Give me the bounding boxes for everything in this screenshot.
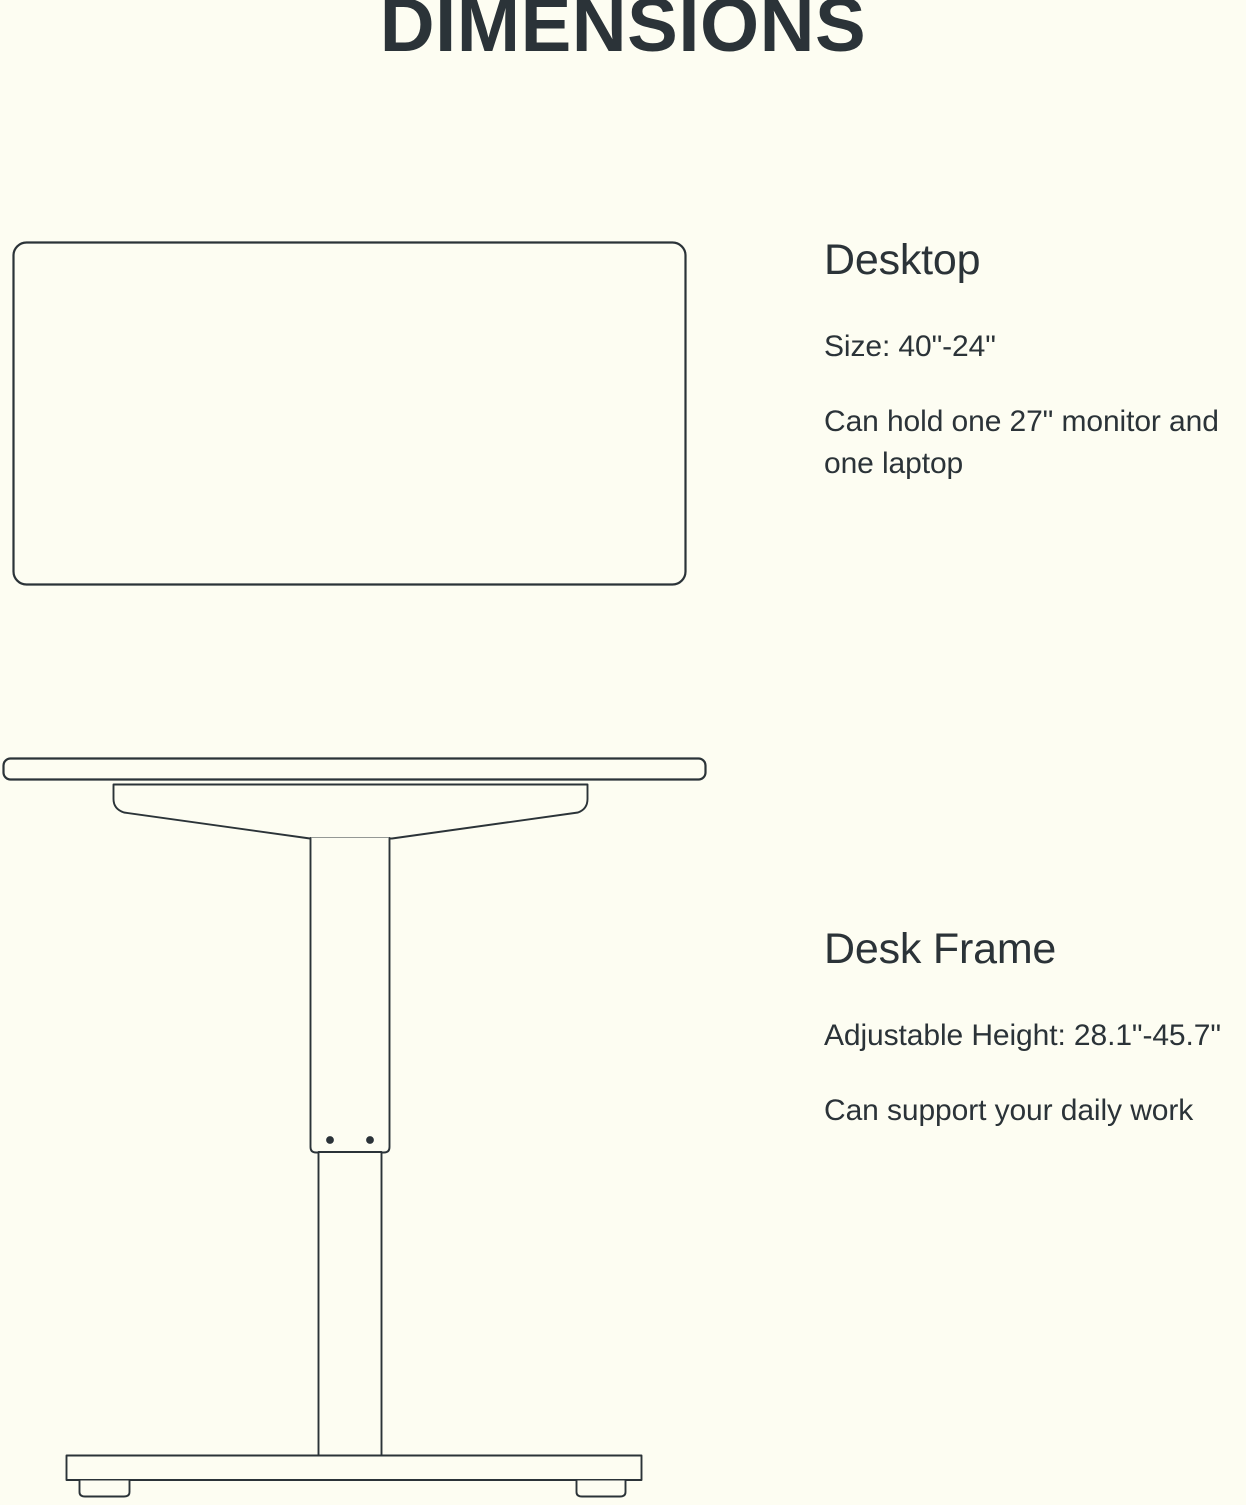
desktop-spec-size: Size: 40"-24" [824, 326, 1246, 369]
screw-left-icon [327, 1137, 334, 1144]
desktop-top-view-drawing [0, 232, 720, 602]
desktop-spec-block: Desktop Size: 40"-24" Can hold one 27" m… [824, 236, 1246, 486]
base-plate-outline [67, 1456, 642, 1481]
tabletop-slab-outline [4, 759, 706, 780]
desk-frame-spec-heading: Desk Frame [824, 925, 1246, 973]
desk-frame-spec-block: Desk Frame Adjustable Height: 28.1"-45.7… [824, 925, 1246, 1132]
desk-frame-side-view-drawing [0, 748, 740, 1500]
top-bracket-outline [114, 785, 588, 839]
base-glide-left-outline [80, 1481, 130, 1497]
base-glide-right-outline [577, 1481, 626, 1497]
page-title: DIMENSIONS [0, 0, 1246, 64]
upper-column-outline [311, 838, 390, 1153]
desktop-outline-rect [14, 243, 686, 585]
desk-frame-spec-support: Can support your daily work [824, 1090, 1246, 1133]
screw-right-icon [367, 1137, 374, 1144]
desk-frame-spec-height: Adjustable Height: 28.1"-45.7" [824, 1015, 1246, 1058]
desktop-spec-heading: Desktop [824, 236, 1246, 284]
lower-column-outline [319, 1152, 382, 1456]
desktop-spec-capacity: Can hold one 27" monitor and one laptop [824, 401, 1246, 486]
